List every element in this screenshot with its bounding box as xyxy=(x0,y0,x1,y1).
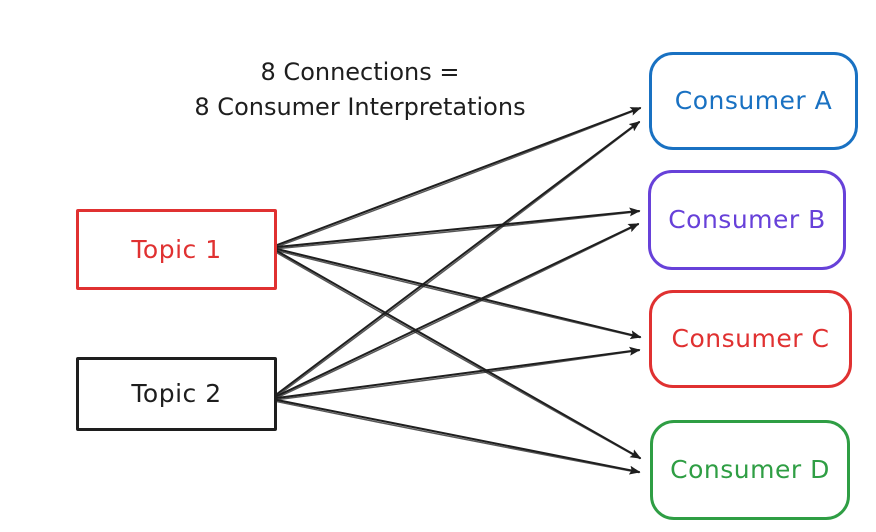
connection-arrow-topic-1-to-consumer-d[interactable] xyxy=(277,251,640,458)
topic-node-topic-1[interactable]: Topic 1 xyxy=(76,209,277,290)
connection-sketch-stroke xyxy=(277,350,639,399)
caption-line-2: 8 Consumer Interpretations xyxy=(150,90,570,125)
connection-arrow-topic-2-to-consumer-b[interactable] xyxy=(277,224,638,396)
diagram-canvas: 8 Connections = 8 Consumer Interpretatio… xyxy=(0,0,876,532)
consumer-node-label: Consumer B xyxy=(668,206,826,234)
connection-arrow-topic-1-to-consumer-b[interactable] xyxy=(277,211,639,247)
connection-sketch-stroke xyxy=(276,252,640,458)
consumer-node-consumer-d[interactable]: Consumer D xyxy=(650,420,850,520)
caption-line-1: 8 Connections = xyxy=(150,55,570,90)
consumer-node-consumer-a[interactable]: Consumer A xyxy=(649,52,858,150)
topic-node-label: Topic 2 xyxy=(131,380,221,408)
connection-sketch-stroke xyxy=(278,122,639,395)
consumer-node-consumer-c[interactable]: Consumer C xyxy=(649,290,852,388)
connection-arrow-topic-2-to-consumer-d[interactable] xyxy=(277,400,639,472)
diagram-caption: 8 Connections = 8 Consumer Interpretatio… xyxy=(150,55,570,125)
connection-sketch-stroke xyxy=(278,108,641,246)
connection-sketch-stroke xyxy=(278,224,639,397)
connection-sketch-stroke xyxy=(277,251,640,338)
topic-node-topic-2[interactable]: Topic 2 xyxy=(76,357,277,431)
connection-arrow-topic-2-to-consumer-a[interactable] xyxy=(277,122,639,394)
connection-arrow-topic-1-to-consumer-c[interactable] xyxy=(277,249,640,337)
connection-arrow-topic-2-to-consumer-c[interactable] xyxy=(277,350,639,398)
consumer-node-consumer-b[interactable]: Consumer B xyxy=(648,170,846,270)
connection-sketch-stroke xyxy=(277,402,639,473)
consumer-node-label: Consumer A xyxy=(675,87,833,115)
consumer-node-label: Consumer C xyxy=(672,325,830,353)
connection-sketch-stroke xyxy=(277,211,639,248)
connection-lines xyxy=(276,108,640,472)
topic-node-label: Topic 1 xyxy=(131,236,221,264)
connection-arrow-topic-1-to-consumer-a[interactable] xyxy=(277,108,640,245)
consumer-node-label: Consumer D xyxy=(670,456,830,484)
